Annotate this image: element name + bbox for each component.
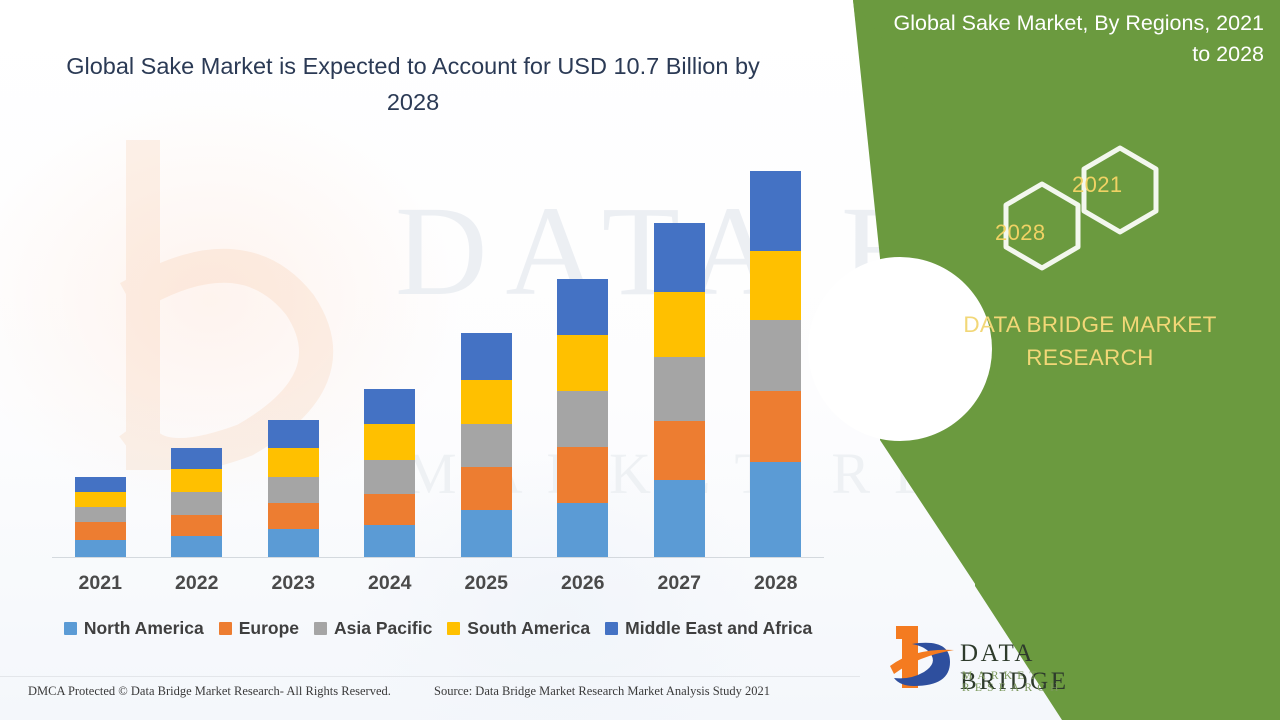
hexagon-shapes-icon [980, 140, 1180, 280]
x-axis-label-2026: 2026 [535, 572, 631, 602]
bar-segment[interactable] [461, 333, 512, 380]
bar-segment[interactable] [750, 462, 801, 557]
bar-segment[interactable] [171, 469, 222, 492]
stacked-bar-2027[interactable] [654, 223, 705, 557]
bar-segment[interactable] [750, 391, 801, 462]
x-axis-label-2027: 2027 [631, 572, 727, 602]
legend-item[interactable]: South America [447, 618, 590, 639]
chart-legend: North AmericaEuropeAsia PacificSouth Ame… [52, 612, 824, 644]
footer-source: Source: Data Bridge Market Research Mark… [434, 684, 770, 699]
bar-column [149, 150, 245, 557]
bar-segment[interactable] [557, 335, 608, 391]
x-axis-label-2025: 2025 [438, 572, 534, 602]
data-bridge-logo: DATA BRIDGE MARKET RESEARCH [888, 622, 1148, 708]
bar-segment[interactable] [654, 292, 705, 357]
legend-label: Europe [239, 618, 299, 639]
legend-label: North America [84, 618, 204, 639]
x-axis-label-2021: 2021 [52, 572, 148, 602]
stacked-bar-2025[interactable] [461, 333, 512, 557]
stacked-bar-2028[interactable] [750, 171, 801, 557]
legend-swatch [605, 622, 618, 635]
chart-title: Global Sake Market is Expected to Accoun… [52, 48, 774, 120]
chart-plot-area [52, 150, 824, 558]
bar-segment[interactable] [557, 447, 608, 503]
bar-segment[interactable] [461, 467, 512, 510]
legend-swatch [219, 622, 232, 635]
legend-item[interactable]: North America [64, 618, 204, 639]
bar-segment[interactable] [461, 380, 512, 425]
legend-item[interactable]: Asia Pacific [314, 618, 432, 639]
bar-segment[interactable] [268, 420, 319, 448]
bar-segment[interactable] [654, 421, 705, 481]
bar-segment[interactable] [364, 389, 415, 424]
bar-segment[interactable] [171, 448, 222, 470]
legend-label: Asia Pacific [334, 618, 432, 639]
bar-segment[interactable] [171, 492, 222, 514]
x-axis-label-2023: 2023 [245, 572, 341, 602]
x-axis-label-2022: 2022 [149, 572, 245, 602]
bar-segment[interactable] [268, 529, 319, 557]
bar-column [438, 150, 534, 557]
bar-segment[interactable] [750, 320, 801, 391]
bar-segment[interactable] [461, 510, 512, 557]
bar-segment[interactable] [557, 503, 608, 557]
legend-item[interactable]: Europe [219, 618, 299, 639]
bar-segment[interactable] [364, 494, 415, 526]
bar-segment[interactable] [75, 492, 126, 508]
bar-segment[interactable] [654, 357, 705, 420]
bar-segment[interactable] [557, 391, 608, 447]
hexagon-label-start: 2021 [1072, 172, 1123, 198]
bar-segment[interactable] [75, 507, 126, 522]
hexagon-label-end: 2028 [995, 220, 1046, 246]
legend-swatch [447, 622, 460, 635]
bar-column [728, 150, 824, 557]
stacked-bar-2023[interactable] [268, 420, 319, 557]
bar-segment[interactable] [461, 424, 512, 467]
hexagon-group: 2021 2028 [980, 140, 1180, 280]
bar-segment[interactable] [171, 536, 222, 557]
bar-segment[interactable] [268, 448, 319, 477]
bar-segment[interactable] [750, 171, 801, 251]
bar-column [245, 150, 341, 557]
stacked-bar-2026[interactable] [557, 279, 608, 557]
bar-segment[interactable] [75, 522, 126, 540]
bar-column [631, 150, 727, 557]
footer-divider [0, 676, 860, 677]
bar-segment[interactable] [364, 460, 415, 494]
stacked-bar-2024[interactable] [364, 389, 415, 557]
bar-segment[interactable] [750, 251, 801, 320]
x-axis-label-2024: 2024 [342, 572, 438, 602]
bar-segment[interactable] [75, 477, 126, 492]
legend-swatch [314, 622, 327, 635]
stacked-bar-group [52, 150, 824, 557]
bar-column [342, 150, 438, 557]
infographic-canvas: DATA BRIDGE MARKET RESEARCH Global Sake … [0, 0, 1280, 720]
brand-name: DATA BRIDGE MARKET RESEARCH [940, 308, 1240, 374]
x-axis-label-2028: 2028 [728, 572, 824, 602]
bar-column [535, 150, 631, 557]
logo-tagline: MARKET RESEARCH [962, 670, 1148, 694]
stacked-bar-2021[interactable] [75, 477, 126, 557]
bar-segment[interactable] [364, 525, 415, 557]
stacked-bar-2022[interactable] [171, 448, 222, 557]
panel-title: Global Sake Market, By Regions, 2021 to … [888, 8, 1264, 70]
bar-segment[interactable] [268, 477, 319, 503]
x-axis-line [52, 557, 824, 558]
bar-segment[interactable] [557, 279, 608, 335]
legend-item[interactable]: Middle East and Africa [605, 618, 812, 639]
bar-column [52, 150, 148, 557]
bar-segment[interactable] [268, 503, 319, 529]
bar-segment[interactable] [171, 515, 222, 537]
logo-b-icon [888, 622, 958, 696]
legend-label: Middle East and Africa [625, 618, 812, 639]
bar-segment[interactable] [364, 424, 415, 459]
x-axis-labels: 20212022202320242025202620272028 [52, 572, 824, 602]
bar-segment[interactable] [75, 540, 126, 557]
legend-swatch [64, 622, 77, 635]
bar-segment[interactable] [654, 480, 705, 557]
bar-segment[interactable] [654, 223, 705, 292]
legend-label: South America [467, 618, 590, 639]
footer-copyright: DMCA Protected © Data Bridge Market Rese… [28, 684, 391, 699]
